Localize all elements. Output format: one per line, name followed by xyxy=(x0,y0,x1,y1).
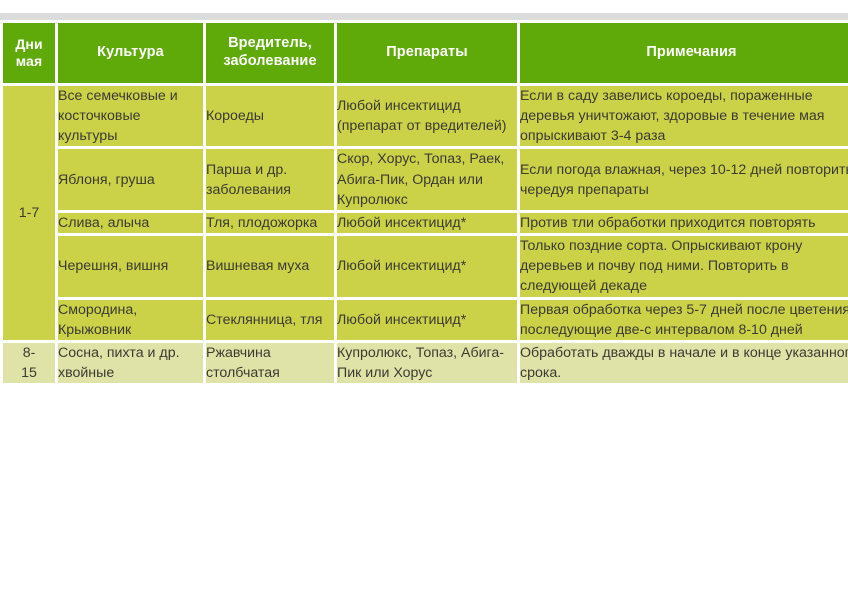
top-grey-strip xyxy=(0,13,848,20)
cell-preparations: Купролюкс, Топаз, Абига- Пик или Хорус xyxy=(337,343,517,383)
column-header-pest-line2: заболевание xyxy=(223,53,316,69)
cell-pest: Короеды xyxy=(206,86,334,146)
column-header-days-line2: мая xyxy=(16,53,42,69)
table-row: 8- 15 Сосна, пихта и др. хвойные Ржавчин… xyxy=(3,343,848,383)
cell-pest: Стеклянница, тля xyxy=(206,300,334,340)
table-header: Дни мая Культура Вредитель, заболевание … xyxy=(3,23,848,83)
column-header-crop: Культура xyxy=(58,23,203,83)
cell-preparations: Любой инсектицид* xyxy=(337,300,517,340)
cell-preparations: Любой инсектицид* xyxy=(337,236,517,296)
cell-notes: Если погода влажная, через 10-12 дней по… xyxy=(520,149,848,209)
table-header-row: Дни мая Культура Вредитель, заболевание … xyxy=(3,23,848,83)
schedule-table-wrapper: Дни мая Культура Вредитель, заболевание … xyxy=(0,20,848,386)
cell-preparations: Любой инсектицид* xyxy=(337,213,517,233)
cell-pest: Ржавчина столбчатая xyxy=(206,343,334,383)
cell-pest: Тля, плодожорка xyxy=(206,213,334,233)
cell-notes: Только поздние сорта. Опрыскивают крону … xyxy=(520,236,848,296)
cell-notes: Если в саду завелись короеды, пораженные… xyxy=(520,86,848,146)
cell-crop: Черешня, вишня xyxy=(58,236,203,296)
day-range-cell-8-15: 8- 15 xyxy=(3,343,55,383)
cell-preparations: Скор, Хорус, Топаз, Раек, Абига-Пик, Орд… xyxy=(337,149,517,209)
table-body: 1-7 Все семечковые и косточковые культур… xyxy=(3,86,848,383)
cell-crop: Слива, алыча xyxy=(58,213,203,233)
cell-crop: Яблоня, груша xyxy=(58,149,203,209)
schedule-page: Дни мая Культура Вредитель, заболевание … xyxy=(0,0,848,601)
spraying-schedule-table: Дни мая Культура Вредитель, заболевание … xyxy=(0,20,848,386)
table-row: Яблоня, груша Парша и др. заболевания Ск… xyxy=(3,149,848,209)
cell-crop: Сосна, пихта и др. хвойные xyxy=(58,343,203,383)
column-header-days-line1: Дни xyxy=(15,36,42,52)
column-header-pest: Вредитель, заболевание xyxy=(206,23,334,83)
column-header-pest-line1: Вредитель, xyxy=(228,35,312,51)
cell-pest: Вишневая муха xyxy=(206,236,334,296)
day-range-cell-1-7: 1-7 xyxy=(3,86,55,340)
cell-crop: Смородина, Крыжовник xyxy=(58,300,203,340)
table-row: 1-7 Все семечковые и косточковые культур… xyxy=(3,86,848,146)
cell-notes: Первая обработка через 5-7 дней после цв… xyxy=(520,300,848,340)
table-row: Черешня, вишня Вишневая муха Любой инсек… xyxy=(3,236,848,296)
day-range-line1: 8- xyxy=(23,345,36,361)
cell-pest: Парша и др. заболевания xyxy=(206,149,334,209)
table-row: Слива, алыча Тля, плодожорка Любой инсек… xyxy=(3,213,848,233)
cell-notes: Обработать дважды в начале и в конце ука… xyxy=(520,343,848,383)
column-header-notes: Примечания xyxy=(520,23,848,83)
cell-preparations: Любой инсектицид (препарат от вредителей… xyxy=(337,86,517,146)
day-range-line2: 15 xyxy=(21,365,37,381)
cell-crop: Все семечковые и косточковые культуры xyxy=(58,86,203,146)
cell-notes: Против тли обработки приходится повторят… xyxy=(520,213,848,233)
column-header-preparations: Препараты xyxy=(337,23,517,83)
column-header-days: Дни мая xyxy=(3,23,55,83)
table-row: Смородина, Крыжовник Стеклянница, тля Лю… xyxy=(3,300,848,340)
